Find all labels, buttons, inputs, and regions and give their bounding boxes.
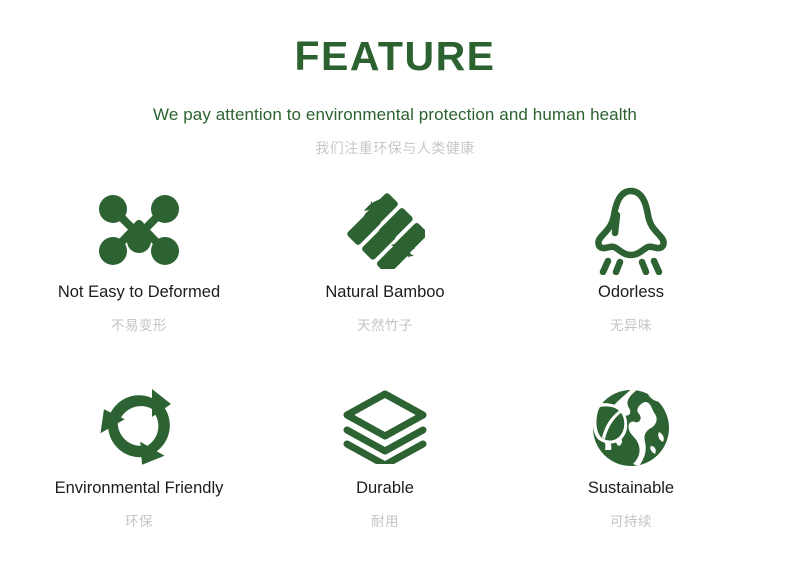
feature-section: FEATURE We pay attention to environmenta… <box>0 0 790 576</box>
recycle-icon <box>97 378 181 474</box>
feature-item-sustainable: Sustainable 可持续 <box>508 378 754 574</box>
section-subtitle-cn: 我们注重环保与人类健康 <box>0 125 790 158</box>
molecule-structure-icon <box>96 182 182 278</box>
section-header: FEATURE We pay attention to environmenta… <box>0 0 790 158</box>
feature-item-not-easy-to-deformed: Not Easy to Deformed 不易变形 <box>16 182 262 378</box>
feature-label-cn: 不易变形 <box>111 314 167 334</box>
section-subtitle-en: We pay attention to environmental protec… <box>0 77 790 125</box>
feature-label-cn: 天然竹子 <box>357 314 413 334</box>
nose-odorless-icon <box>590 182 672 278</box>
feature-item-durable: Durable 耐用 <box>262 378 508 574</box>
feature-label: Natural Bamboo <box>325 283 444 301</box>
feature-item-environmental-friendly: Environmental Friendly 环保 <box>16 378 262 574</box>
feature-label: Durable <box>356 479 414 497</box>
feature-label: Not Easy to Deformed <box>58 283 220 301</box>
bamboo-icon <box>345 182 425 278</box>
feature-label-cn: 耐用 <box>371 510 399 530</box>
feature-label: Sustainable <box>588 479 674 497</box>
feature-item-odorless: Odorless 无异味 <box>508 182 754 378</box>
feature-label-cn: 可持续 <box>610 510 652 530</box>
feature-label: Environmental Friendly <box>55 479 224 497</box>
feature-label: Odorless <box>598 283 664 301</box>
feature-label-cn: 环保 <box>125 510 153 530</box>
page-title: FEATURE <box>0 36 790 77</box>
feature-label-cn: 无异味 <box>610 314 652 334</box>
feature-item-natural-bamboo: Natural Bamboo 天然竹子 <box>262 182 508 378</box>
feature-grid: Not Easy to Deformed 不易变形 <box>0 182 790 574</box>
layers-stack-icon <box>341 378 429 474</box>
globe-leaf-icon <box>589 378 673 474</box>
